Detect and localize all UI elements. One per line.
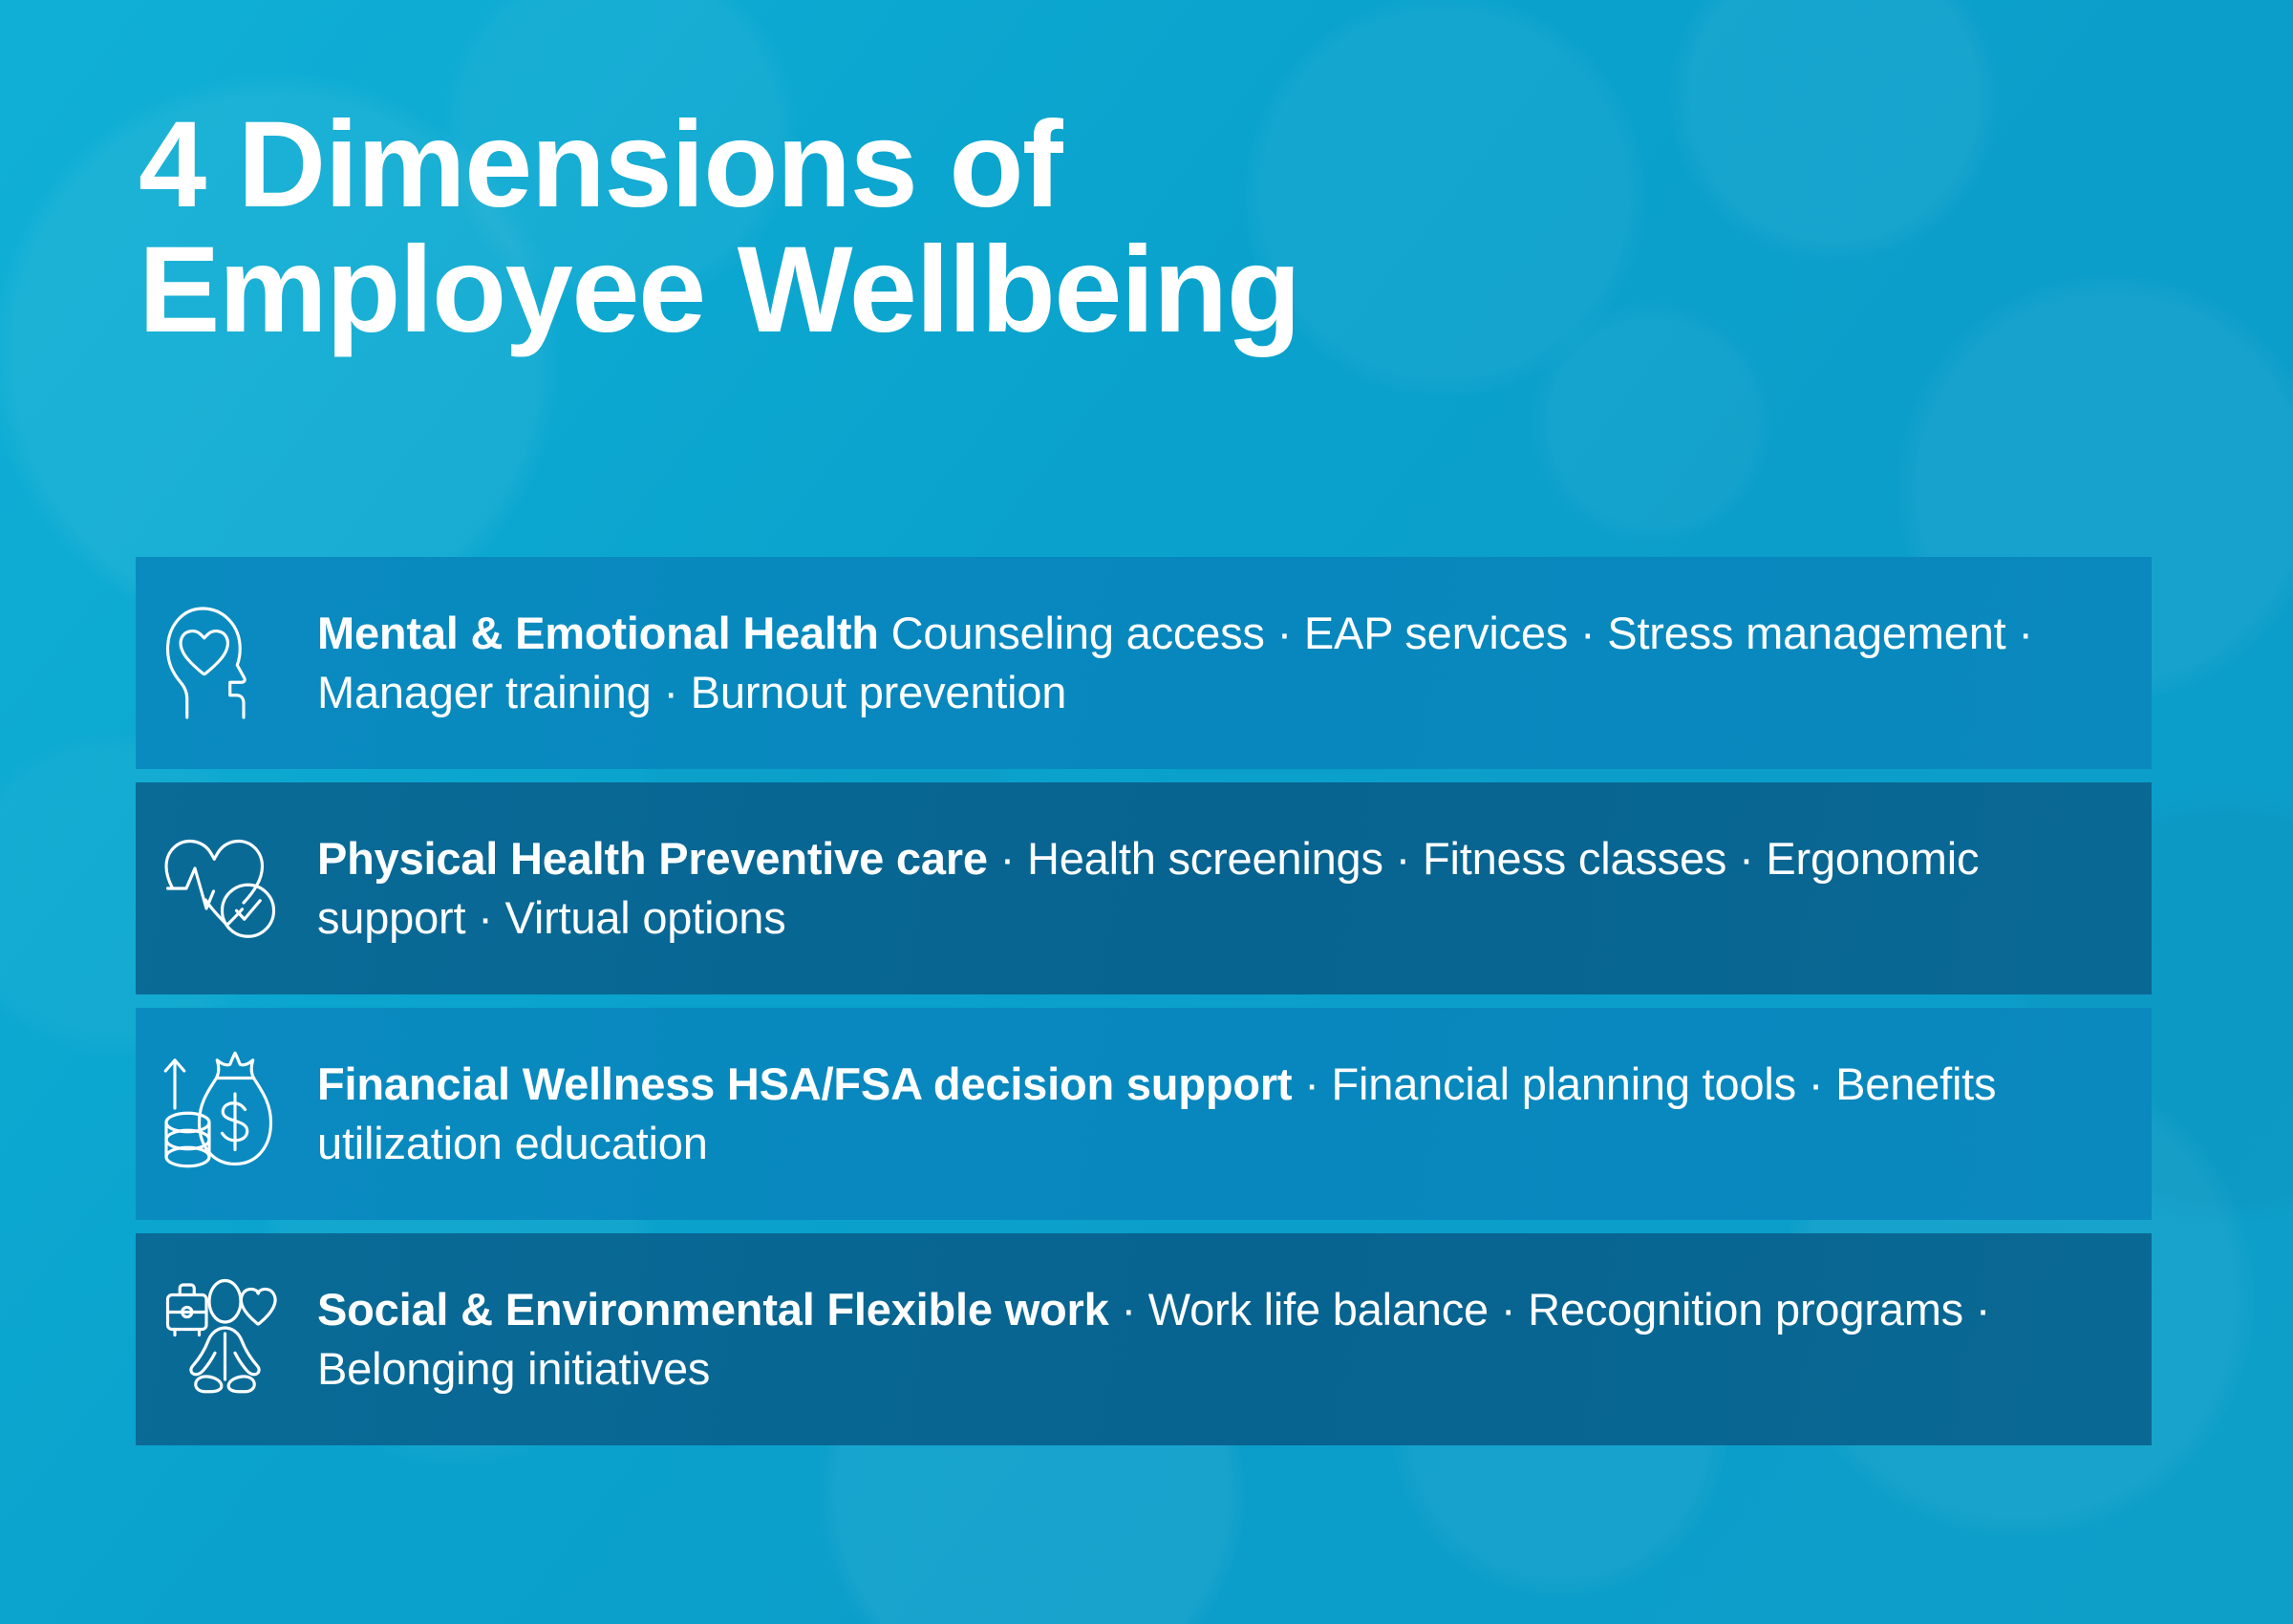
- dimension-row-text: Mental & Emotional Health Counseling acc…: [317, 604, 2152, 722]
- dimension-heading: Financial Wellness HSA/FSA decision supp…: [317, 1058, 1292, 1109]
- dimension-row-social-environmental[interactable]: Social & Environmental Flexible work · W…: [136, 1233, 2152, 1445]
- page-title-line-2: Employee Wellbeing: [139, 228, 1954, 353]
- money-bag-coins-icon: [136, 1042, 317, 1186]
- dimension-row-physical-health[interactable]: Physical Health Preventive care · Health…: [136, 782, 2152, 994]
- person-work-life-icon: [136, 1268, 317, 1411]
- dimension-heading: Social & Environmental Flexible work: [317, 1284, 1109, 1335]
- dimension-row-text: Physical Health Preventive care · Health…: [317, 829, 2152, 948]
- dimension-row-text: Financial Wellness HSA/FSA decision supp…: [317, 1055, 2152, 1173]
- dimension-row-text: Social & Environmental Flexible work · W…: [317, 1280, 2152, 1399]
- dimension-heading: Physical Health Preventive care: [317, 833, 988, 884]
- dimension-list: Mental & Emotional Health Counseling acc…: [136, 557, 2152, 1445]
- head-with-heart-icon: [136, 591, 317, 735]
- heart-pulse-check-icon: [136, 817, 317, 960]
- page-title: 4 Dimensions of Employee Wellbeing: [139, 103, 1954, 353]
- page-title-line-1: 4 Dimensions of: [139, 103, 1954, 228]
- dimension-heading: Mental & Emotional Health: [317, 608, 879, 658]
- dimension-row-financial-wellness[interactable]: Financial Wellness HSA/FSA decision supp…: [136, 1008, 2152, 1220]
- dimension-row-mental-emotional-health[interactable]: Mental & Emotional Health Counseling acc…: [136, 557, 2152, 769]
